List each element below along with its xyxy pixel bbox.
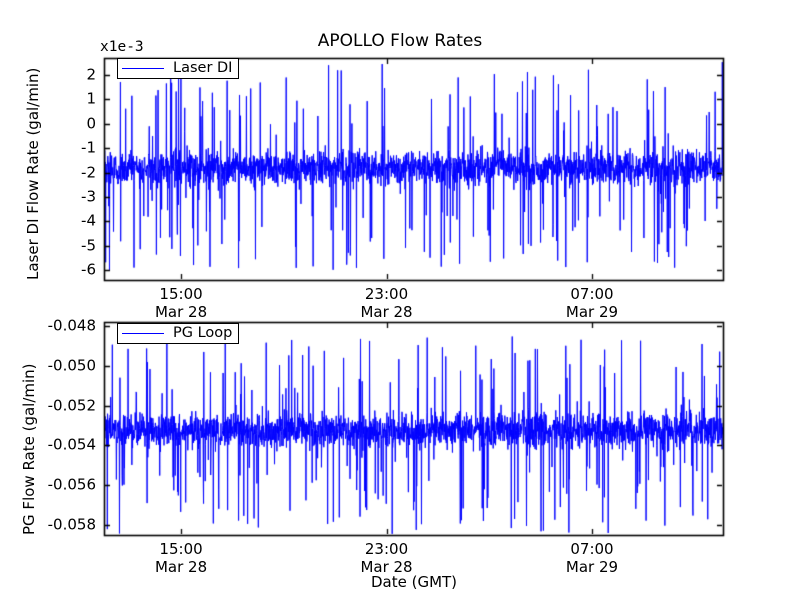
x-tick-label: 23:00Mar 28: [360, 542, 412, 575]
y-tick-label: -0.056: [8, 478, 96, 493]
legend-line-swatch-laser-di: [122, 68, 164, 69]
y-tick-label: -0.058: [8, 518, 96, 533]
legend-label-pg-loop: PG Loop: [173, 326, 232, 341]
y-tick-label: -4: [8, 214, 96, 229]
y-tick-label: -6: [8, 263, 96, 278]
x-axis-label: Date (GMT): [104, 575, 724, 590]
legend-label-laser-di: Laser DI: [173, 61, 232, 76]
x-tick-label: 07:00Mar 29: [566, 542, 618, 575]
x-tick-label: 07:00Mar 29: [566, 287, 618, 320]
y-tick-label: -5: [8, 238, 96, 253]
y-axis-offset-label-top: x1e-3: [100, 40, 144, 55]
y-tick-label: 2: [8, 68, 96, 83]
x-tick-label: 15:00Mar 28: [155, 287, 207, 320]
y-tick-label: -0.052: [8, 398, 96, 413]
figure-canvas: APOLLO Flow Rates x1e-3 Laser DI Flow Ra…: [0, 0, 800, 600]
y-tick-label: -2: [8, 165, 96, 180]
y-tick-label: -1: [8, 141, 96, 156]
legend-top[interactable]: Laser DI: [117, 58, 239, 79]
y-tick-label: -0.050: [8, 358, 96, 373]
legend-line-swatch-pg-loop: [122, 333, 164, 334]
y-tick-label: -3: [8, 190, 96, 205]
x-tick-label: 23:00Mar 28: [360, 287, 412, 320]
x-tick-label: 15:00Mar 28: [155, 542, 207, 575]
legend-bottom[interactable]: PG Loop: [117, 323, 239, 344]
y-tick-label: 0: [8, 116, 96, 131]
y-tick-label: 1: [8, 92, 96, 107]
y-tick-label: -0.054: [8, 438, 96, 453]
y-tick-label: -0.048: [8, 318, 96, 333]
